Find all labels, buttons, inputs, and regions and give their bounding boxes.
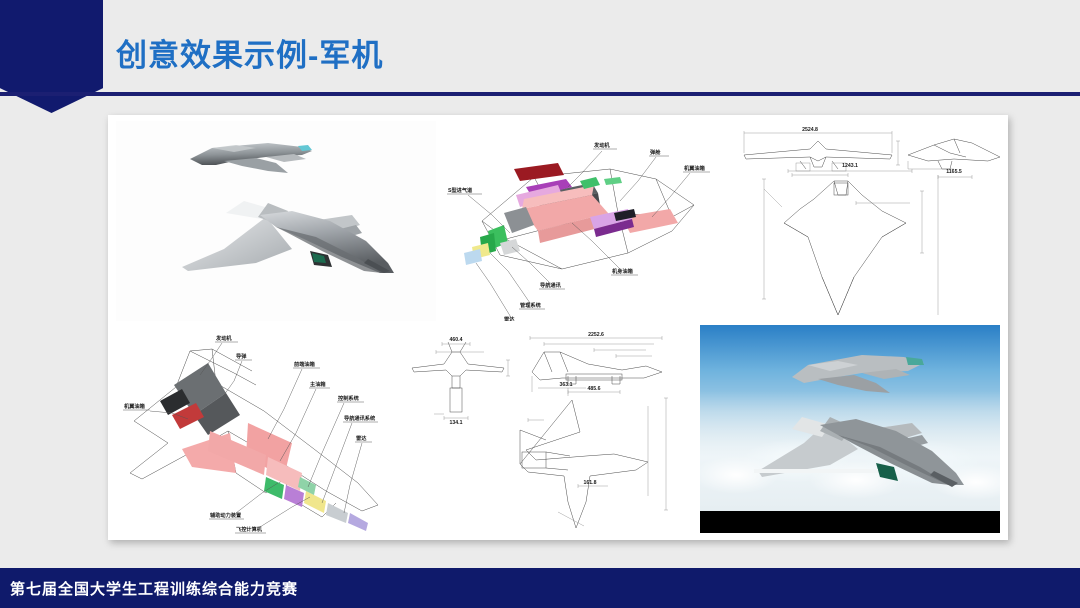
label-fuselage-tank: 机身油箱 [612, 267, 634, 275]
label-control-system: 控制系统 [338, 394, 360, 402]
svg-text:2252.6: 2252.6 [588, 332, 604, 338]
svg-text:485.6: 485.6 [588, 386, 601, 392]
label-engine-2: 发动机 [215, 334, 232, 342]
render-panel-graphic [116, 121, 436, 321]
photo-letterbox-bar [700, 511, 1000, 533]
svg-text:363.1: 363.1 [560, 382, 573, 388]
svg-text:134.1: 134.1 [450, 420, 463, 426]
page-title: 创意效果示例-军机 [116, 30, 383, 75]
cad-bottom-panel-graphic: 460.4 134.1 2252.6 [408, 330, 696, 535]
svg-text:460.4: 460.4 [450, 337, 463, 343]
label-front-tank: 前端油箱 [294, 360, 316, 368]
render-panel [116, 121, 436, 321]
label-navigation: 导航通讯 [540, 281, 562, 289]
section-panel-graphic: 发动机 导弹 前端油箱 主油箱 控制系统 导航通讯系统 [116, 327, 416, 535]
label-navigation-system: 导航通讯系统 [344, 414, 376, 422]
label-apu: 辅助动力装置 [210, 511, 241, 519]
cad-top-panel: 2524.8 1165.5 [722, 119, 1004, 324]
title-divider [0, 92, 1080, 96]
cad-bottom-panel: 460.4 134.1 2252.6 [408, 330, 696, 535]
label-radar-2: 雷达 [356, 434, 367, 442]
svg-text:1165.5: 1165.5 [946, 169, 962, 175]
svg-text:2524.8: 2524.8 [802, 127, 818, 133]
svg-text:161.8: 161.8 [584, 480, 597, 486]
footer-label: 第七届全国大学生工程训练综合能力竞赛 [10, 578, 298, 599]
exploded-panel: 发动机 弹舱 机翼油箱 S型进气道 导航通讯 管理系统 [442, 121, 718, 321]
label-management-system: 管理系统 [520, 301, 542, 309]
content-card: 发动机 弹舱 机翼油箱 S型进气道 导航通讯 管理系统 [108, 115, 1008, 540]
label-wing-tank: 机翼油箱 [684, 164, 706, 172]
svg-text:1243.1: 1243.1 [842, 163, 858, 169]
cad-top-panel-graphic: 2524.8 1165.5 [722, 119, 1004, 324]
label-missile: 导弹 [236, 352, 247, 360]
label-engine: 发动机 [593, 141, 610, 149]
slide-root: 创意效果示例-军机 [0, 0, 1080, 608]
label-weapon-bay: 弹舱 [650, 148, 661, 156]
label-main-tank: 主油箱 [310, 380, 326, 388]
photo-panel [700, 325, 1000, 533]
photo-aircraft-large [754, 417, 964, 487]
label-flight-computer: 飞控计算机 [236, 525, 263, 533]
label-s-duct: S型进气道 [448, 186, 473, 194]
corner-banner-decoration [0, 0, 103, 113]
label-wing-tank-2: 机翼油箱 [124, 402, 146, 410]
exploded-panel-graphic: 发动机 弹舱 机翼油箱 S型进气道 导航通讯 管理系统 [442, 121, 718, 321]
photo-aircraft-small [792, 355, 924, 393]
section-panel: 发动机 导弹 前端油箱 主油箱 控制系统 导航通讯系统 [116, 327, 416, 535]
photo-aircraft-group [700, 325, 1000, 533]
